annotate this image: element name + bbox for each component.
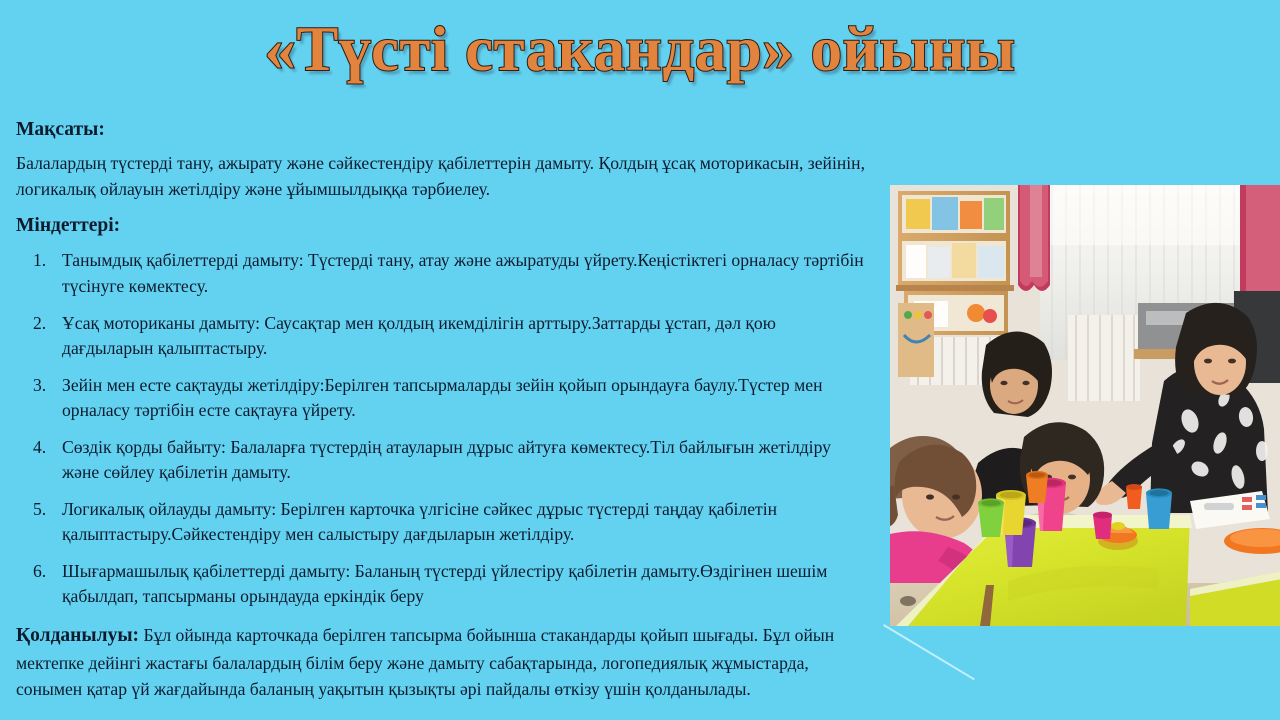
list-item: 2. Ұсақ моториканы дамыту: Саусақтар мен… — [16, 311, 871, 363]
list-item-number: 2. — [33, 311, 46, 337]
classroom-photo — [890, 185, 1280, 626]
slide-body: Мақсаты: Балалардың түстерді тану, ажыра… — [16, 118, 871, 702]
scratch-line — [883, 624, 975, 680]
list-item: 6. Шығармашылық қабілеттерді дамыту: Бал… — [16, 559, 871, 611]
list-item-text: Зейін мен есте сақтауды жетілдіру:Берілг… — [62, 375, 823, 421]
list-item-text: Танымдық қабілеттерді дамыту: Түстерді т… — [62, 250, 864, 296]
usage-text: Бұл ойында карточкада берілген тапсырма … — [16, 625, 834, 699]
tasks-list: 1. Танымдық қабілеттерді дамыту: Түстерд… — [16, 248, 871, 610]
list-item-number: 5. — [33, 497, 46, 523]
list-item-text: Ұсақ моториканы дамыту: Саусақтар мен қо… — [62, 313, 776, 359]
goal-text: Балалардың түстерді тану, ажырату және с… — [16, 151, 871, 203]
list-item-number: 6. — [33, 559, 46, 585]
list-item-text: Логикалық ойлауды дамыту: Берілген карто… — [62, 499, 777, 545]
list-item: 5. Логикалық ойлауды дамыту: Берілген ка… — [16, 497, 871, 549]
tasks-heading: Міндеттері: — [16, 214, 871, 238]
classroom-photo-illustration — [890, 185, 1280, 626]
list-item-text: Сөздік қорды байыту: Балаларға түстердің… — [62, 437, 831, 483]
usage-label: Қолданылуы: — [16, 625, 139, 646]
list-item-text: Шығармашылық қабілеттерді дамыту: Баланы… — [62, 561, 827, 607]
list-item: 3. Зейін мен есте сақтауды жетілдіру:Бер… — [16, 373, 871, 425]
list-item-number: 3. — [33, 373, 46, 399]
goal-heading: Мақсаты: — [16, 118, 871, 142]
list-item-number: 4. — [33, 435, 46, 461]
scratch-artifact — [884, 624, 974, 678]
list-item-number: 1. — [33, 248, 46, 274]
list-item: 1. Танымдық қабілеттерді дамыту: Түстерд… — [16, 248, 871, 300]
usage-paragraph: Қолданылуы: Бұл ойында карточкада берілг… — [16, 621, 871, 702]
list-item: 4. Сөздік қорды байыту: Балаларға түстер… — [16, 435, 871, 487]
page-title: «Түсті стакандар» ойыны — [0, 14, 1280, 85]
